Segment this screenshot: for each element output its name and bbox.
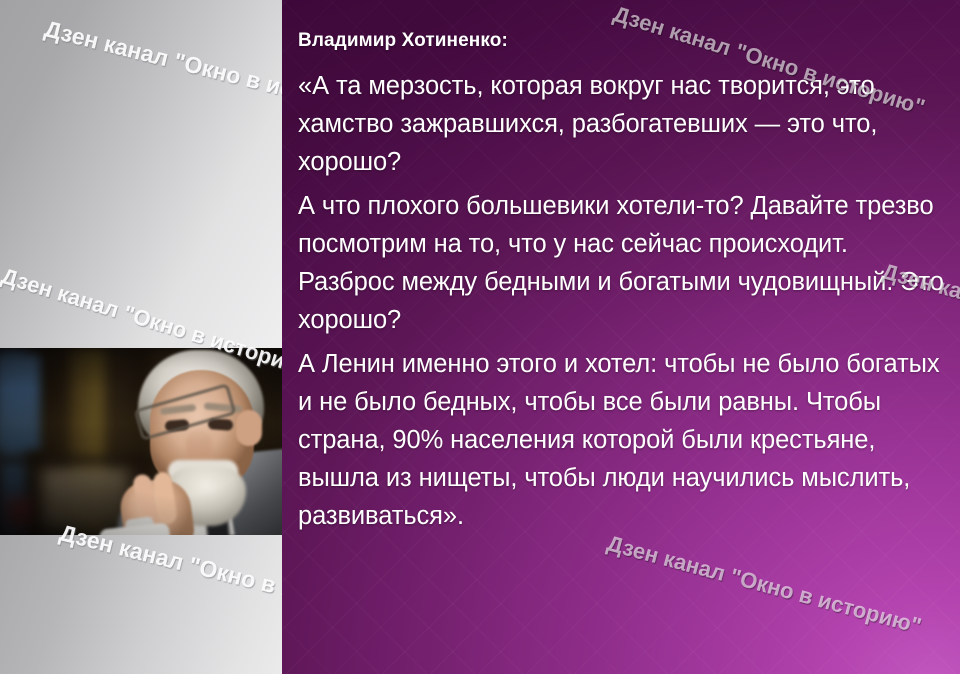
right-quote-panel: Владимир Хотиненко: «А та мерзость, кото… [282, 0, 960, 674]
quote-paragraph: А что плохого большевики хотели-то? Дава… [298, 187, 948, 339]
photo-vignette [0, 348, 282, 535]
quote-paragraph: А Ленин именно этого и хотел: чтобы не б… [298, 345, 948, 535]
left-panel-lower-gradient [0, 535, 282, 674]
speaker-name: Владимир Хотиненко: [298, 30, 948, 53]
quote-block: Владимир Хотиненко: «А та мерзость, кото… [298, 30, 948, 539]
slide-canvas: Дзен канал "Окно в историю" Дзен канал "… [0, 0, 960, 674]
quote-paragraph: «А та мерзость, которая вокруг нас твори… [298, 67, 948, 181]
left-gray-panel: Дзен канал "Окно в историю" Дзен канал "… [0, 0, 282, 674]
portrait-photo [0, 348, 282, 535]
watermark-text: Дзен канал "Окно в историю" [604, 530, 924, 639]
left-panel-upper-gradient [0, 0, 282, 348]
